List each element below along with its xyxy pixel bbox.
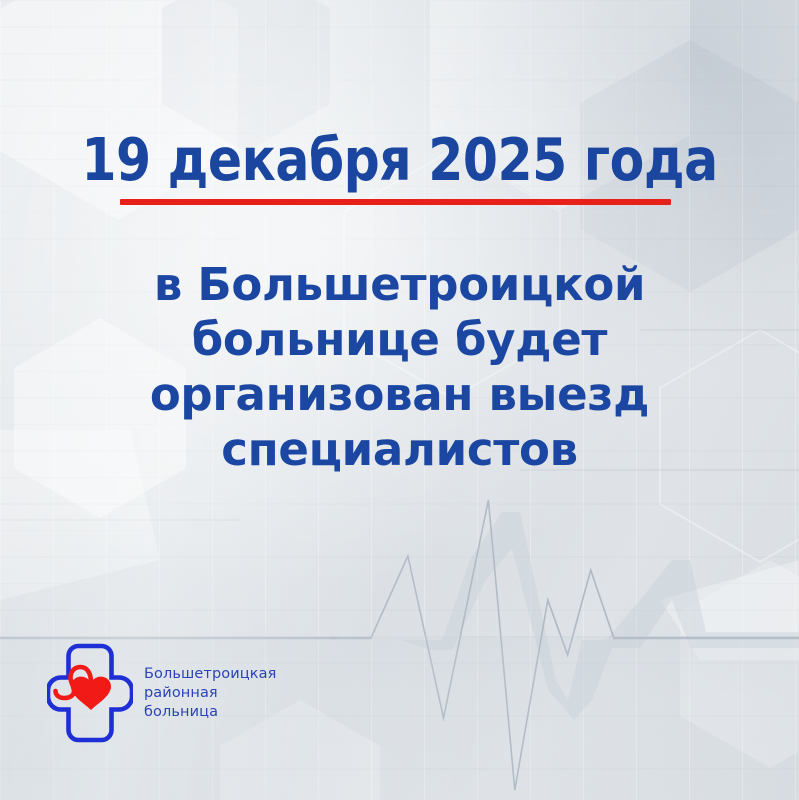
hospital-logo: Большетроицкая районная больница	[47, 641, 307, 745]
announcement-line-2: больнице будет	[60, 312, 739, 367]
page-title: 19 декабря 2025 года	[20, 129, 779, 191]
hospital-logo-text: Большетроицкая районная больница	[144, 665, 276, 722]
cross-heart-logo-icon	[47, 642, 133, 744]
announcement-text: в Большетроицкой больнице будет организо…	[60, 257, 739, 477]
announcement-line-1: в Большетроицкой	[60, 257, 739, 312]
announcement-line-4: специалистов	[60, 422, 739, 477]
announcement-line-3: организован выезд	[60, 367, 739, 422]
poster-canvas: 19 декабря 2025 года в Большетроицкой бо…	[0, 0, 799, 800]
logo-text-line-2: районная	[144, 684, 276, 703]
title-underline-rule	[120, 199, 671, 205]
logo-text-line-1: Большетроицкая	[144, 665, 276, 684]
logo-text-line-3: больница	[144, 703, 276, 722]
